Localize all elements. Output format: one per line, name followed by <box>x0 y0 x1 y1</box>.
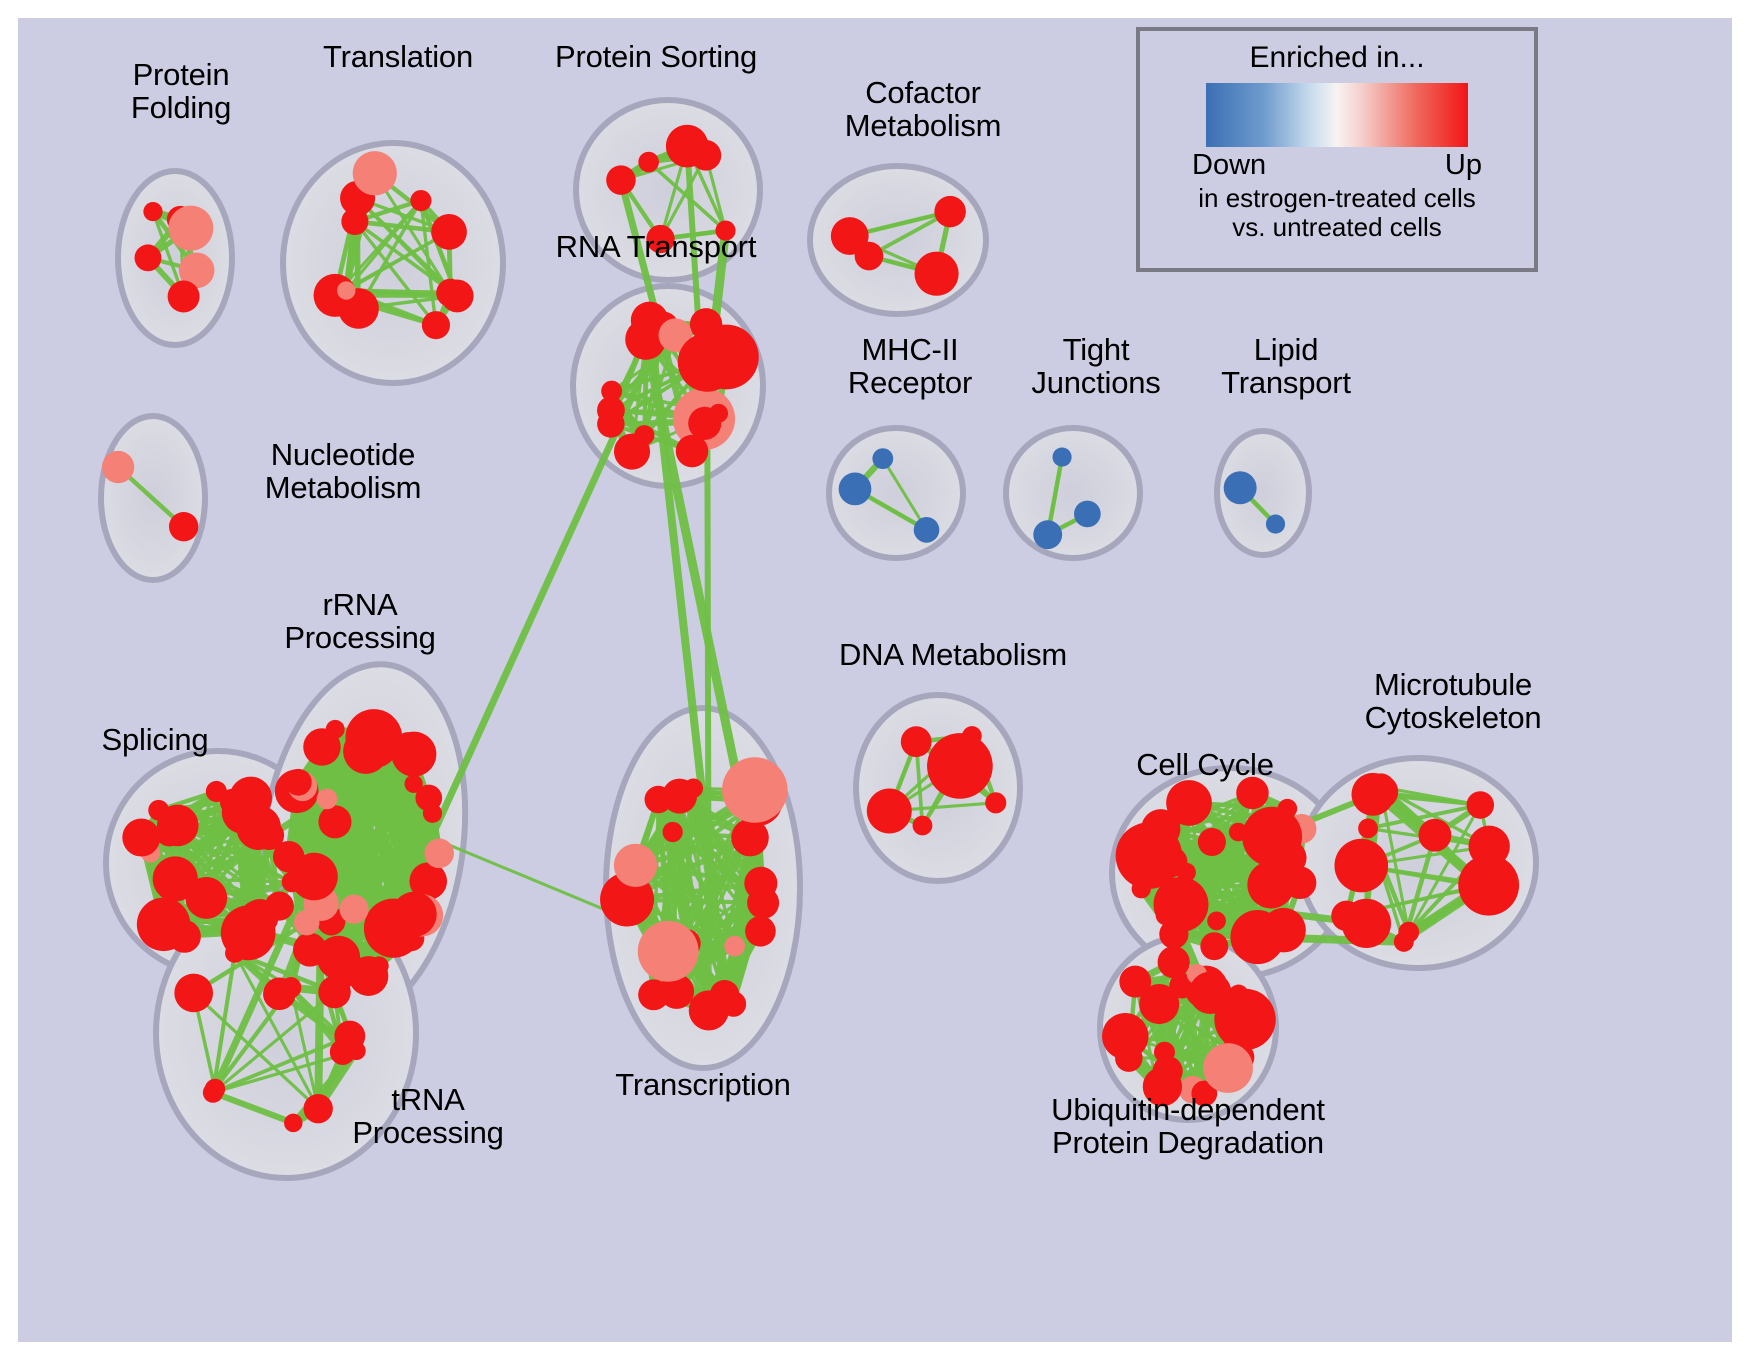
network-node[interactable] <box>153 856 198 901</box>
network-node[interactable] <box>1398 922 1419 943</box>
network-node[interactable] <box>385 936 404 955</box>
network-node[interactable] <box>1358 819 1378 839</box>
network-node[interactable] <box>1052 447 1071 466</box>
network-edge <box>707 362 709 1010</box>
network-node[interactable] <box>242 899 279 936</box>
network-node[interactable] <box>614 844 657 887</box>
network-node[interactable] <box>404 775 422 793</box>
network-node[interactable] <box>280 977 301 998</box>
network-node[interactable] <box>1143 1067 1182 1106</box>
network-node[interactable] <box>691 140 722 171</box>
network-node[interactable] <box>135 244 162 271</box>
network-node[interactable] <box>149 898 168 917</box>
network-node[interactable] <box>839 473 872 506</box>
network-node[interactable] <box>318 805 351 838</box>
network-node[interactable] <box>168 206 213 251</box>
network-node[interactable] <box>293 941 313 961</box>
network-node[interactable] <box>1166 780 1212 826</box>
network-node[interactable] <box>709 404 728 423</box>
network-node[interactable] <box>431 214 467 250</box>
cluster-hull-tight-junctions[interactable] <box>1006 428 1140 558</box>
network-node[interactable] <box>174 974 213 1013</box>
network-node[interactable] <box>205 1079 225 1099</box>
network-node[interactable] <box>1224 471 1257 504</box>
network-node[interactable] <box>1334 839 1388 893</box>
network-node[interactable] <box>285 769 312 796</box>
network-node[interactable] <box>1198 828 1226 856</box>
network-node[interactable] <box>1468 826 1509 867</box>
network-node[interactable] <box>927 733 993 799</box>
network-node[interactable] <box>392 892 437 937</box>
network-node[interactable] <box>606 165 636 195</box>
network-node[interactable] <box>225 943 245 963</box>
network-node[interactable] <box>143 202 162 221</box>
network-node[interactable] <box>284 1114 302 1132</box>
network-node[interactable] <box>422 311 450 339</box>
network-node[interactable] <box>1418 819 1451 852</box>
network-node[interactable] <box>638 921 699 982</box>
network-node[interactable] <box>689 990 729 1030</box>
network-node[interactable] <box>731 819 769 857</box>
network-node[interactable] <box>347 1042 366 1061</box>
legend-color-gradient <box>1206 83 1468 147</box>
network-node[interactable] <box>662 779 697 814</box>
network-node[interactable] <box>1266 514 1285 533</box>
network-node[interactable] <box>410 190 431 211</box>
network-node[interactable] <box>423 804 442 823</box>
network-node[interactable] <box>1207 912 1226 931</box>
network-node[interactable] <box>646 225 674 253</box>
network-node[interactable] <box>318 976 350 1008</box>
network-node[interactable] <box>722 757 788 823</box>
network-node[interactable] <box>1228 985 1248 1005</box>
network-node[interactable] <box>102 451 134 483</box>
network-node[interactable] <box>1074 501 1101 528</box>
network-node[interactable] <box>1342 899 1391 948</box>
network-node[interactable] <box>745 916 776 947</box>
network-node[interactable] <box>634 425 654 445</box>
network-node[interactable] <box>273 841 305 873</box>
network-node[interactable] <box>1033 520 1062 549</box>
network-node[interactable] <box>985 792 1006 813</box>
network-node[interactable] <box>353 151 397 195</box>
network-node[interactable] <box>638 979 669 1010</box>
network-node[interactable] <box>337 281 355 299</box>
network-node[interactable] <box>1200 932 1228 960</box>
legend-caption: in estrogen-treated cells vs. untreated … <box>1140 184 1534 242</box>
network-node[interactable] <box>914 252 958 296</box>
network-node[interactable] <box>157 805 199 847</box>
network-node[interactable] <box>715 221 735 241</box>
network-node[interactable] <box>1138 836 1178 876</box>
figure-canvas: Protein FoldingTranslationNucleotide Met… <box>0 0 1750 1360</box>
network-node[interactable] <box>303 728 340 765</box>
network-node[interactable] <box>370 956 389 975</box>
network-node[interactable] <box>1367 773 1394 800</box>
network-node[interactable] <box>1466 791 1494 819</box>
network-node[interactable] <box>1261 908 1306 953</box>
network-node[interactable] <box>424 839 454 869</box>
network-node[interactable] <box>294 910 320 936</box>
network-node[interactable] <box>343 729 388 774</box>
network-node[interactable] <box>168 280 200 312</box>
network-node[interactable] <box>169 512 198 541</box>
network-node[interactable] <box>867 789 912 834</box>
network-edge <box>318 903 321 1108</box>
legend-up-label: Up <box>1445 149 1482 182</box>
network-node[interactable] <box>317 789 338 810</box>
network-node[interactable] <box>1203 1043 1253 1093</box>
network-node[interactable] <box>831 217 869 255</box>
network-node[interactable] <box>1284 866 1317 899</box>
network-node[interactable] <box>206 781 227 802</box>
network-node[interactable] <box>724 936 745 957</box>
network-node[interactable] <box>663 822 683 842</box>
network-node[interactable] <box>638 152 659 173</box>
network-node[interactable] <box>441 279 474 312</box>
legend-title: Enriched in... <box>1140 41 1534 75</box>
network-plot-area: Protein FoldingTranslationNucleotide Met… <box>18 18 1732 1342</box>
cluster-hull-protein-sorting[interactable] <box>576 100 760 280</box>
network-node[interactable] <box>1236 777 1269 810</box>
network-node[interactable] <box>696 352 717 373</box>
network-node[interactable] <box>597 396 625 424</box>
network-node[interactable] <box>901 726 932 757</box>
network-node[interactable] <box>934 196 966 228</box>
network-node[interactable] <box>744 867 777 900</box>
network-node[interactable] <box>340 895 369 924</box>
network-node[interactable] <box>304 1094 333 1123</box>
network-node[interactable] <box>913 816 933 836</box>
network-node[interactable] <box>391 732 436 777</box>
network-node[interactable] <box>1102 1013 1148 1059</box>
network-node[interactable] <box>1154 1042 1175 1063</box>
network-node[interactable] <box>914 517 940 543</box>
legend-down-label: Down <box>1192 149 1266 182</box>
network-node[interactable] <box>872 448 893 469</box>
legend-box: Enriched in... Down Up in estrogen-treat… <box>1136 27 1538 272</box>
network-node[interactable] <box>122 819 160 857</box>
